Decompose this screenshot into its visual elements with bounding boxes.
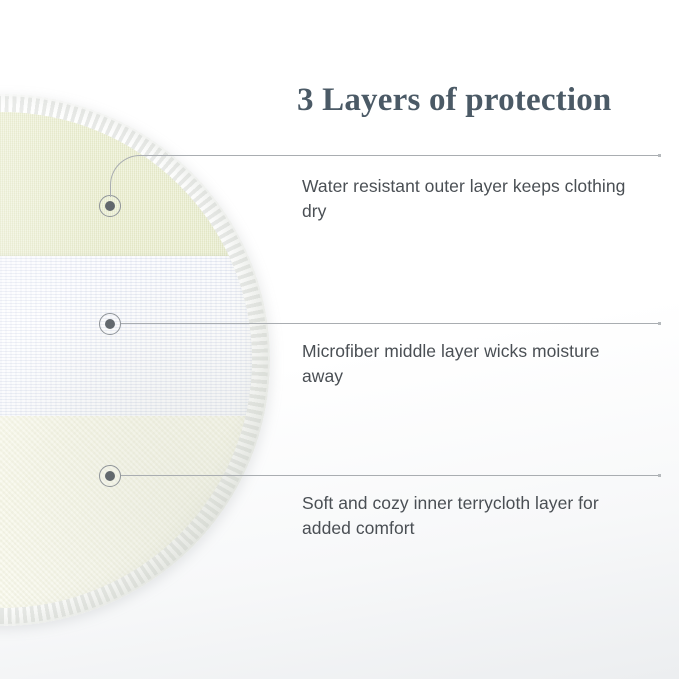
leader-line-inner-layer [121, 475, 661, 476]
callout-marker-middle-layer[interactable] [99, 313, 121, 335]
layer-terrycloth-inner [0, 416, 252, 608]
page-title: 3 Layers of protection [297, 82, 611, 119]
callout-marker-inner-layer[interactable] [99, 465, 121, 487]
leader-line-outer-layer [145, 155, 661, 156]
leader-line-middle-layer [121, 323, 661, 324]
callout-text-outer-layer: Water resistant outer layer keeps clothi… [302, 174, 632, 224]
callout-marker-outer-layer[interactable] [99, 195, 121, 217]
callout-text-middle-layer: Microfiber middle layer wicks moisture a… [302, 339, 632, 389]
layer-microfiber-middle [0, 256, 252, 424]
infographic-canvas: 3 Layers of protection Water resistant o… [0, 0, 679, 679]
callout-text-inner-layer: Soft and cozy inner terrycloth layer for… [302, 491, 632, 541]
